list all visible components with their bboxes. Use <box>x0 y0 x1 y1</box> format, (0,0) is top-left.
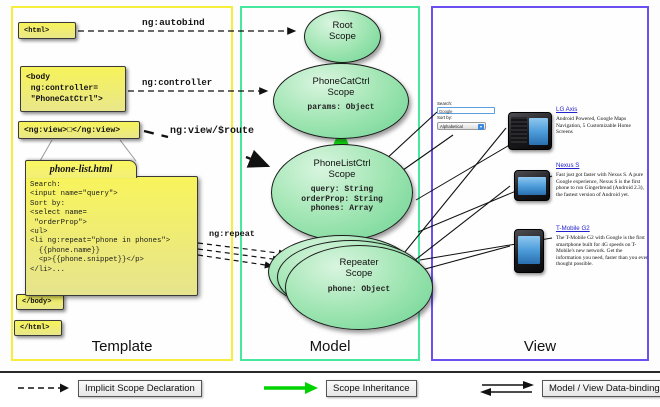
phone-image-t-mobile-g2 <box>514 229 544 273</box>
phone-name-link[interactable]: T-Mobile G2 <box>556 224 648 233</box>
legend-item-model-view-data-binding: Model / View Data-binding <box>478 379 660 397</box>
column-view-label: View <box>433 338 647 355</box>
sort-select[interactable]: Alphabetical ▾ <box>437 122 486 130</box>
phone-snippet: The T-Mobile G2 with Google is the first… <box>556 235 648 268</box>
legend-label-implicit-scope-declaration: Implicit Scope Declaration <box>78 380 202 397</box>
scope-phonelistctrl-title: PhoneListCtrl Scope <box>272 158 412 180</box>
chevron-down-icon: ▾ <box>478 124 484 130</box>
scope-repeater-title: Repeater Scope <box>286 257 432 279</box>
phone-snippet: Android Powered, Google Maps Navigation,… <box>556 116 648 136</box>
search-input[interactable]: Google <box>437 107 495 114</box>
connector-label-ng-controller: ng:controller <box>142 78 212 88</box>
legend: Implicit Scope Declaration Scope Inherit… <box>0 371 660 407</box>
body-controller-tag: <body ng:controller= "PhoneCatCtrl"> <box>20 66 126 112</box>
phone-listing-item: Nexus S Fast just got faster with Nexus … <box>556 161 648 198</box>
double-arrow-icon <box>478 379 536 397</box>
column-model-label: Model <box>242 338 418 355</box>
scope-root-title: Root Scope <box>305 20 380 42</box>
green-arrow-icon <box>262 379 320 397</box>
phone-image-lg-axis <box>508 112 552 150</box>
scope-repeater-props: phone: Object <box>286 285 432 295</box>
scope-root: Root Scope <box>304 10 381 63</box>
scope-repeater: Repeater Scope phone: Object <box>285 245 433 330</box>
connector-label-ng-repeat: ng:repeat <box>209 229 255 239</box>
sort-label: Sort by: <box>437 115 495 121</box>
partial-filename-tab: phone-list.html <box>25 160 137 178</box>
phone-name-link[interactable]: Nexus S <box>556 161 648 170</box>
scope-phonelistctrl: PhoneListCtrl Scope query: String orderP… <box>271 144 413 241</box>
view-search-panel: Search: Google Sort by: Alphabetical ▾ <box>437 101 495 130</box>
html-close-tag: </html> <box>14 320 62 336</box>
scope-phonelistctrl-props: query: String orderProp: String phones: … <box>272 185 412 214</box>
diagram-root: Template Model View <box>0 0 660 405</box>
phone-listing-item: LG Axis Android Powered, Google Maps Nav… <box>556 105 648 136</box>
dashed-arrow-icon <box>14 379 72 397</box>
sort-select-value: Alphabetical <box>440 124 463 129</box>
legend-label-scope-inheritance: Scope Inheritance <box>326 380 417 397</box>
phone-name-link[interactable]: LG Axis <box>556 105 648 114</box>
phone-snippet: Fast just got faster with Nexus S. A pur… <box>556 172 648 198</box>
scope-phonecatctrl-props: params: Object <box>274 103 408 113</box>
connector-label-ng-autobind: ng:autobind <box>142 17 205 28</box>
scope-phonecatctrl-title: PhoneCatCtrl Scope <box>274 76 408 98</box>
legend-item-scope-inheritance: Scope Inheritance <box>262 379 417 397</box>
connector-label-ng-view-route: ng:view/$route <box>170 126 254 137</box>
phone-image-nexus-s <box>514 170 550 201</box>
phone-listing-item: T-Mobile G2 The T-Mobile G2 with Google … <box>556 224 648 268</box>
legend-label-model-view-data-binding: Model / View Data-binding <box>542 380 660 397</box>
body-close-tag: </body> <box>16 294 64 310</box>
legend-item-implicit-scope-declaration: Implicit Scope Declaration <box>14 379 202 397</box>
scope-phonecatctrl: PhoneCatCtrl Scope params: Object <box>273 63 409 139</box>
column-template-label: Template <box>13 338 231 355</box>
partial-code-block: Search: <input name="query"> Sort by: <s… <box>25 176 198 296</box>
html-open-tag: <html> <box>18 22 76 39</box>
ng-view-tag: <ng:view>□</ng:view> <box>18 121 140 139</box>
